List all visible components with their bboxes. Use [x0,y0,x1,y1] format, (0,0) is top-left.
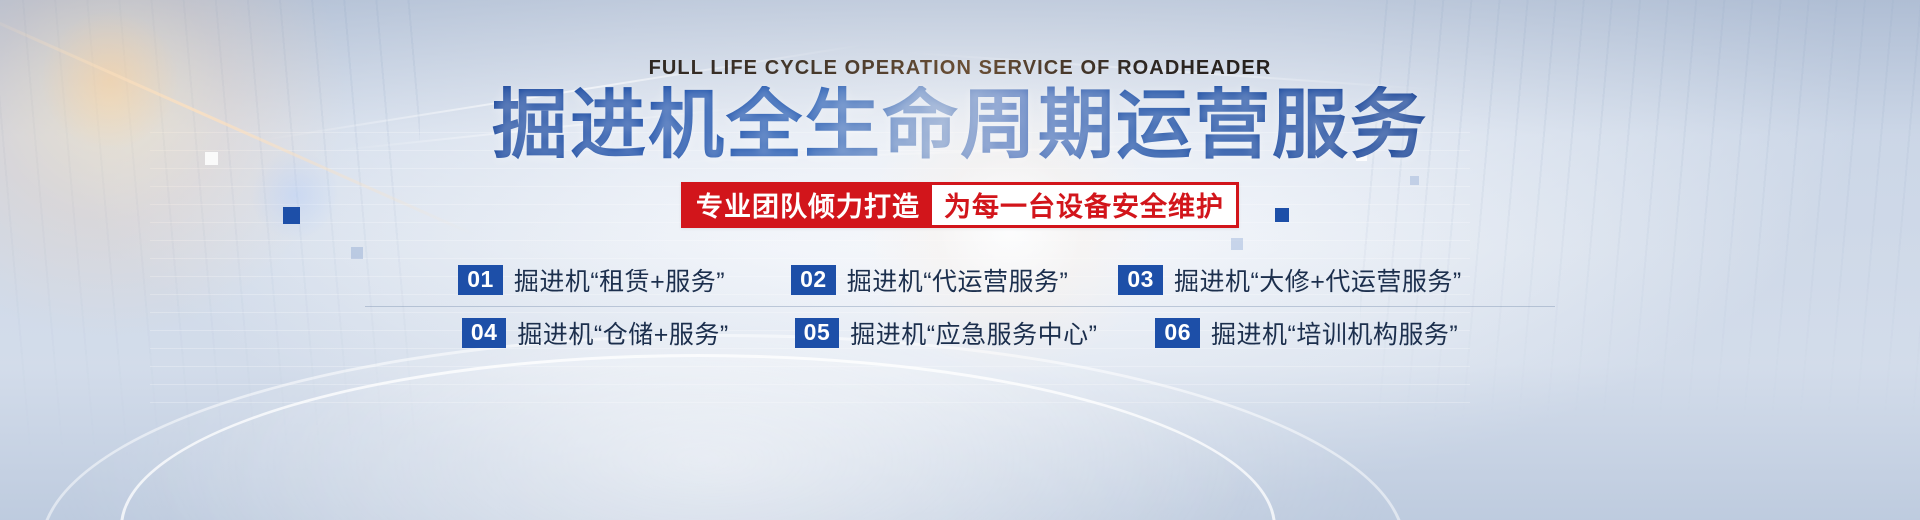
service-row-bottom: 04 掘进机“仓储+服务” 05 掘进机“应急服务中心” 06 掘进机“培训机构… [365,307,1555,359]
tagline-highlight: 专业团队倾力打造 [684,185,932,225]
service-item-02[interactable]: 02 掘进机“代运营服务” [791,262,1068,298]
service-item-01[interactable]: 01 掘进机“租赁+服务” [458,262,725,298]
service-number-badge: 02 [791,265,836,295]
service-list: 01 掘进机“租赁+服务” 02 掘进机“代运营服务” 03 掘进机“大修+代运… [365,254,1555,359]
service-label: 掘进机“仓储+服务” [517,315,728,351]
service-label: 掘进机“大修+代运营服务” [1174,262,1462,298]
service-label: 掘进机“应急服务中心” [850,315,1097,351]
service-item-06[interactable]: 06 掘进机“培训机构服务” [1155,315,1458,351]
service-number-badge: 05 [795,318,840,348]
service-number-badge: 01 [458,265,503,295]
service-item-03[interactable]: 03 掘进机“大修+代运营服务” [1118,262,1461,298]
banner-headline: 掘进机全生命周期运营服务 [492,86,1428,166]
service-label: 掘进机“培训机构服务” [1211,315,1458,351]
service-number-badge: 04 [462,318,507,348]
service-label: 掘进机“租赁+服务” [514,262,725,298]
service-number-badge: 03 [1118,265,1163,295]
tagline-secondary: 为每一台设备安全维护 [932,185,1236,225]
service-item-05[interactable]: 05 掘进机“应急服务中心” [795,315,1098,351]
service-row-top: 01 掘进机“租赁+服务” 02 掘进机“代运营服务” 03 掘进机“大修+代运… [365,254,1555,307]
banner-eyebrow-english: FULL LIFE CYCLE OPERATION SERVICE OF ROA… [649,57,1272,80]
promo-banner: FULL LIFE CYCLE OPERATION SERVICE OF ROA… [0,0,1920,520]
service-number-badge: 06 [1155,318,1200,348]
service-item-04[interactable]: 04 掘进机“仓储+服务” [462,315,729,351]
service-label: 掘进机“代运营服务” [847,262,1069,298]
banner-tagline: 专业团队倾力打造 为每一台设备安全维护 [681,182,1239,228]
banner-content: FULL LIFE CYCLE OPERATION SERVICE OF ROA… [0,0,1920,520]
